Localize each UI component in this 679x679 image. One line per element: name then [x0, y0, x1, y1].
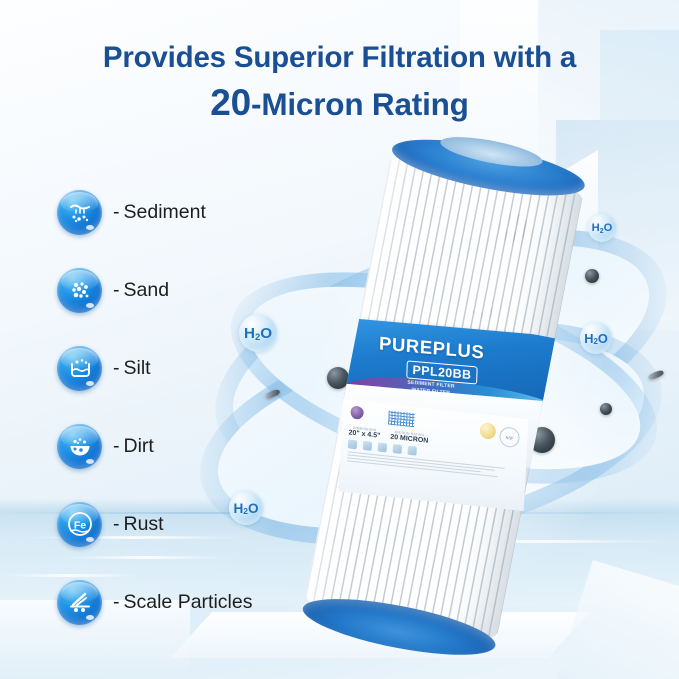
- spec-gem-graphic: [350, 406, 364, 420]
- feature-dash: -: [113, 279, 120, 301]
- contaminant-particle: [600, 403, 612, 415]
- feature-label: -Dirt: [113, 435, 154, 458]
- spec-icon: [407, 446, 416, 456]
- scale-particles-icon: [57, 580, 102, 625]
- feature-dash: -: [113, 513, 120, 535]
- feature-text: Silt: [124, 357, 151, 379]
- spec-icon: [348, 439, 357, 449]
- page-title: Provides Superior Filtration with a 20-M…: [0, 40, 679, 125]
- silt-icon: [57, 346, 102, 391]
- spec-mesh-graphic: [388, 410, 415, 427]
- spec-icon: [378, 442, 387, 452]
- feature-text: Sediment: [124, 201, 206, 223]
- cartridge-body: PUREPLUS PPL20BB SEDIMENT FILTER WATER F…: [302, 144, 586, 651]
- feature-item-dirt[interactable]: -Dirt: [57, 420, 252, 472]
- sand-icon: [57, 268, 102, 313]
- product-marketing-image: Provides Superior Filtration with a 20-M…: [0, 0, 679, 679]
- spec-micron: MICRON RATING 20 MICRON: [390, 430, 429, 445]
- feature-text: Dirt: [124, 435, 154, 457]
- title-line-2: 20-Micron Rating: [0, 80, 679, 126]
- dirt-icon: [57, 424, 102, 469]
- feature-dash: -: [113, 357, 120, 379]
- specification-sheet: NSF DIMENSIONS 20" x 4.5" MICRON RATING …: [338, 400, 528, 511]
- title-line-1: Provides Superior Filtration with a: [0, 40, 679, 77]
- micron-number: 20: [210, 82, 251, 123]
- water-filter-cartridge: PUREPLUS PPL20BB SEDIMENT FILTER WATER F…: [332, 142, 600, 650]
- model-number: PPL20BB: [412, 363, 471, 382]
- spec-icon: [393, 444, 402, 454]
- feature-item-scale-particles[interactable]: -Scale Particles: [57, 576, 252, 628]
- feature-label: -Sediment: [113, 201, 206, 224]
- rust-icon: Fe: [57, 502, 102, 547]
- feature-label: -Rust: [113, 513, 164, 536]
- feature-label: -Sand: [113, 279, 169, 302]
- sediment-icon: [57, 190, 102, 235]
- spec-seal-badge: [479, 422, 496, 440]
- spec-dimensions: DIMENSIONS 20" x 4.5": [348, 425, 380, 439]
- micron-rating-text: -Micron Rating: [251, 86, 469, 122]
- feature-text: Sand: [124, 279, 170, 301]
- feature-item-rust[interactable]: Fe -Rust: [57, 498, 252, 550]
- feature-text: Rust: [124, 513, 164, 535]
- feature-dash: -: [113, 591, 120, 613]
- contaminant-feature-list: -Sediment -Sand: [57, 186, 252, 654]
- feature-item-sand[interactable]: -Sand: [57, 264, 252, 316]
- feature-dash: -: [113, 201, 120, 223]
- feature-label: -Silt: [113, 357, 151, 380]
- feature-dash: -: [113, 435, 120, 457]
- spec-icon: [363, 441, 372, 451]
- feature-item-silt[interactable]: -Silt: [57, 342, 252, 394]
- feature-label: -Scale Particles: [113, 591, 252, 614]
- feature-text: Scale Particles: [124, 591, 253, 613]
- feature-item-sediment[interactable]: -Sediment: [57, 186, 252, 238]
